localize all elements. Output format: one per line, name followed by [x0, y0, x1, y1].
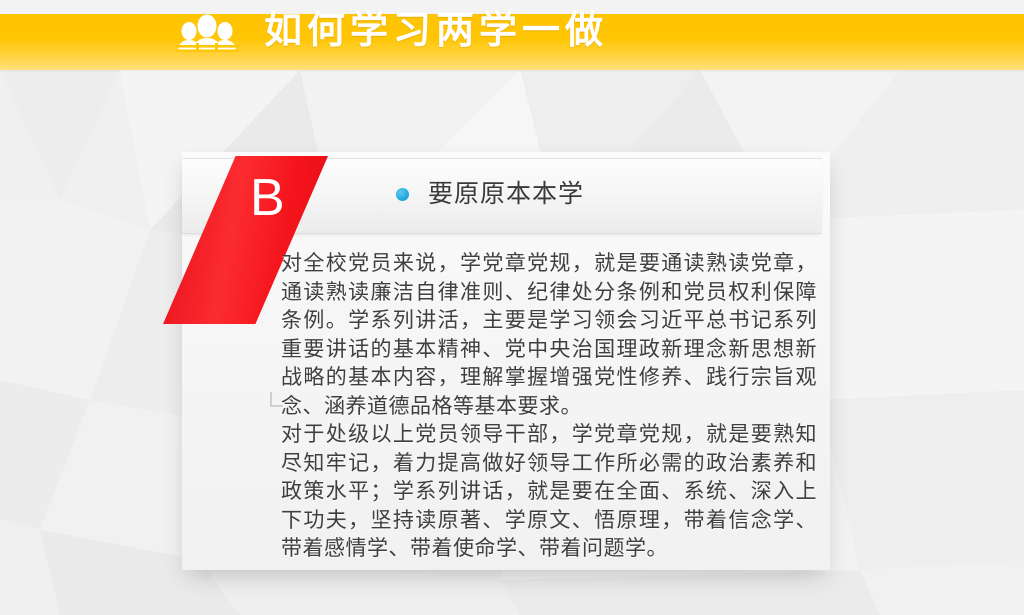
section-badge-letter: B — [250, 170, 285, 226]
body-text-block: 对全校党员来说，学党章党规，就是要通读熟读党章，通读熟读廉洁自律准则、纪律处分条… — [281, 249, 817, 563]
body-paragraph-1: 对全校党员来说，学党章党规，就是要通读熟读党章，通读熟读廉洁自律准则、纪律处分条… — [281, 249, 817, 420]
slide-title: 如何学习两学一做 — [264, 6, 608, 54]
bullet-dot-icon — [396, 188, 409, 201]
body-paragraph-2: 对于处级以上党员领导干部，学党章党规，就是要熟知尽知牢记，着力提高做好领导工作所… — [281, 420, 817, 563]
section-subtitle: 要原原本本学 — [428, 177, 584, 211]
presentation-slide: 如何学习两学一做 B 要原原本本学 对全校党员来说，学党章党规，就是要通读熟读党… — [0, 0, 1024, 615]
group-people-icon — [176, 14, 238, 54]
